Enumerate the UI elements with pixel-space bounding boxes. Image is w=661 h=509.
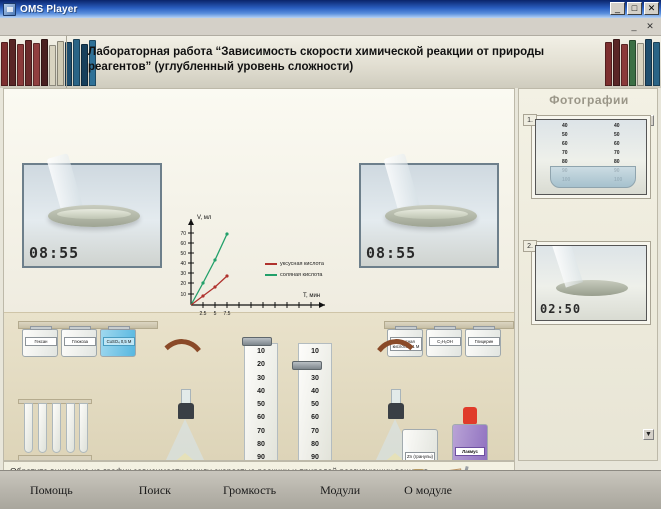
litmus-bottle[interactable]: Лакмус	[452, 424, 488, 461]
reagent-jar-glycerol[interactable]: Глицерин	[465, 329, 501, 357]
menu-item-volume[interactable]: Громкость	[213, 479, 286, 502]
book-spine	[17, 44, 24, 86]
zinc-bottle[interactable]: Zn (гранулы)	[402, 429, 438, 461]
lab-scene[interactable]: 08:55 08:55	[3, 88, 515, 461]
burette-left[interactable]: 10 20 30 40 50 60 70 80 90 100	[244, 343, 278, 461]
svg-text:7.5: 7.5	[224, 311, 231, 317]
jar-cap	[434, 326, 456, 330]
book-spine	[25, 40, 32, 86]
scale-tick: 40	[562, 124, 570, 129]
jar-cap	[69, 326, 91, 330]
test-tube[interactable]	[38, 403, 47, 453]
chart-legend: уксусная кислота соляная кислота	[265, 261, 324, 283]
svg-text:40: 40	[180, 261, 186, 267]
app-icon	[3, 3, 16, 16]
scale-tick: 60	[562, 142, 570, 147]
photos-scroll-down-button[interactable]: ▼	[643, 429, 654, 440]
clamp-right-upper[interactable]	[292, 361, 322, 370]
photo-thumbnail-1[interactable]: 1. 40 50 60 70 80 90 100 40 50 60 70 80	[531, 115, 651, 199]
menu-item-search[interactable]: Поиск	[129, 479, 181, 502]
scale-tick: 30	[257, 375, 265, 382]
svg-text:T, мин: T, мин	[303, 293, 320, 299]
book-spine	[613, 39, 620, 86]
scale-tick: 80	[562, 160, 570, 165]
book-spine	[41, 39, 48, 86]
scale-tick: 90	[311, 454, 319, 461]
petri-dish	[48, 205, 140, 227]
photo-glass-reflection	[551, 245, 583, 288]
lesson-header: Лабораторная работа “Зависимость скорост…	[0, 36, 661, 88]
bottom-menu-bar: Помощь Поиск Громкость Модули О модуле	[0, 470, 661, 509]
video-left[interactable]: 08:55	[22, 163, 162, 268]
scale-tick: 40	[311, 388, 319, 395]
scale-tick: 50	[311, 401, 319, 408]
legend-swatch-acetic	[265, 263, 277, 265]
test-tube[interactable]	[52, 403, 61, 453]
scale-tick: 70	[257, 428, 265, 435]
minimize-button[interactable]: _	[610, 2, 625, 15]
petri-dish	[385, 205, 477, 227]
scale-tick: 10	[257, 348, 265, 355]
video-right-timer: 08:55	[366, 244, 416, 262]
scale-tick: 60	[257, 414, 265, 421]
book-spine	[9, 39, 16, 86]
jar-cap	[395, 326, 417, 330]
scale-tick: 90	[257, 454, 265, 461]
window-title: OMS Player	[20, 4, 78, 15]
svg-text:10: 10	[180, 292, 186, 298]
svg-text:20: 20	[180, 281, 186, 287]
inner-close-button[interactable]: ✕	[643, 20, 657, 32]
video-left-timer: 08:55	[29, 244, 79, 262]
jar-label: Глюкоза	[64, 337, 96, 346]
jar-label: Глицерин	[468, 337, 500, 346]
svg-text:V, мл: V, мл	[197, 215, 212, 221]
book-spine	[621, 44, 628, 86]
jar-cap	[473, 326, 495, 330]
scale-tick: 80	[614, 160, 622, 165]
scale-tick: 50	[257, 401, 265, 408]
svg-text:30: 30	[180, 271, 186, 277]
svg-text:50: 50	[180, 251, 186, 257]
window-titlebar: OMS Player _ □ ✕	[0, 0, 661, 18]
svg-text:2.5: 2.5	[200, 311, 207, 317]
scale-tick: 30	[311, 375, 319, 382]
book-spine	[605, 42, 612, 86]
reagent-jar-hexane[interactable]: Гексан	[22, 329, 58, 357]
jar-label: CuSO₄ 0,5 M	[103, 337, 135, 346]
menu-item-help[interactable]: Помощь	[20, 479, 83, 502]
legend-label-acetic: уксусная кислота	[280, 261, 324, 267]
bookshelf-right-decoration	[605, 36, 660, 88]
test-tube-rack[interactable]	[18, 399, 92, 461]
inner-window-bar: _ ✕	[0, 18, 661, 36]
bottle-label: Лакмус	[455, 447, 485, 456]
reaction-rate-chart: 10 20 30 40 50 60 70 2.5 5 7.5 V, мл T, …	[177, 209, 357, 319]
jar-label: C₂H₅OH	[429, 337, 461, 346]
scale-tick: 70	[614, 151, 622, 156]
book-spine	[653, 42, 660, 86]
inner-window-controls: _ ✕	[627, 20, 657, 32]
burette-left-scale: 10 20 30 40 50 60 70 80 90 100	[245, 348, 277, 461]
bottle-label: Zn (гранулы)	[405, 452, 435, 461]
scale-tick: 20	[257, 361, 265, 368]
book-spine	[645, 39, 652, 86]
book-spine	[73, 39, 80, 86]
svg-text:70: 70	[180, 231, 186, 237]
burette-assembly[interactable]: 10 20 30 40 50 60 70 80 90 100 10 20 30	[240, 329, 344, 461]
photo-thumbnail-2[interactable]: 2. 02:50	[531, 241, 651, 325]
flask-right-stopper[interactable]	[388, 403, 404, 419]
scale-tick: 70	[562, 151, 570, 156]
jar-cap	[108, 326, 130, 330]
dropper-cap-icon[interactable]	[463, 407, 477, 425]
page-title: Лабораторная работа “Зависимость скорост…	[88, 45, 558, 75]
application-body: Лабораторная работа “Зависимость скорост…	[0, 36, 661, 470]
book-spine	[49, 45, 56, 86]
photo-image: 02:50	[535, 245, 647, 321]
test-tube[interactable]	[24, 403, 33, 453]
scale-tick: 40	[614, 124, 622, 129]
scale-tick: 70	[311, 428, 319, 435]
reagent-jars-left: Гексан Глюкоза CuSO₄ 0,5 M	[22, 329, 136, 357]
window-controls: _ □ ✕	[610, 2, 659, 15]
clamp-left-upper[interactable]	[242, 337, 272, 346]
scale-tick: 10	[311, 348, 319, 355]
header-divider	[66, 36, 67, 88]
book-spine	[1, 42, 8, 86]
close-button[interactable]: ✕	[644, 2, 659, 15]
menu-item-about[interactable]: О модуле	[394, 479, 462, 502]
svg-text:5: 5	[214, 311, 217, 317]
video-right[interactable]: 08:55	[359, 163, 499, 268]
test-tube[interactable]	[66, 403, 75, 453]
flask-left-stopper[interactable]	[178, 403, 194, 419]
legend-swatch-hydrochloric	[265, 274, 277, 276]
bookshelf-left-decoration	[1, 36, 96, 88]
scale-tick: 60	[311, 414, 319, 421]
legend-item-hydrochloric: соляная кислота	[265, 272, 324, 278]
scale-tick: 80	[311, 441, 319, 448]
book-spine	[629, 40, 636, 86]
svg-text:60: 60	[180, 241, 186, 247]
reagent-jar-glucose[interactable]: Глюкоза	[61, 329, 97, 357]
legend-label-hydrochloric: соляная кислота	[280, 272, 323, 278]
test-tube[interactable]	[79, 403, 88, 453]
legend-item-acetic: уксусная кислота	[265, 261, 324, 267]
scale-tick: 50	[562, 133, 570, 138]
photos-title: Фотографии	[519, 93, 659, 107]
menu-item-modules[interactable]: Модули	[310, 479, 370, 502]
photos-panel: Фотографии ▲ ▼ 1. 40 50 60 70 80 90 100 …	[518, 88, 658, 461]
maximize-button[interactable]: □	[627, 2, 642, 15]
book-spine	[81, 44, 88, 86]
scale-tick: 60	[614, 142, 622, 147]
scale-tick: 40	[257, 388, 265, 395]
scale-tick: 80	[257, 441, 265, 448]
jar-cap	[30, 326, 52, 330]
scale-tick: 50	[614, 133, 622, 138]
reagent-jar-copper-sulfate[interactable]: CuSO₄ 0,5 M	[100, 329, 136, 357]
flask-left[interactable]	[159, 419, 211, 461]
inner-restore-button[interactable]: _	[627, 20, 641, 32]
photo-timer: 02:50	[540, 302, 581, 316]
reagent-jar-ethanol[interactable]: C₂H₅OH	[426, 329, 462, 357]
book-spine	[57, 41, 64, 86]
book-spine	[33, 43, 40, 86]
photo-trough	[550, 166, 636, 188]
book-spine	[637, 43, 644, 86]
jar-label: Гексан	[25, 337, 57, 346]
photo-image: 40 50 60 70 80 90 100 40 50 60 70 80 90 …	[535, 119, 647, 195]
